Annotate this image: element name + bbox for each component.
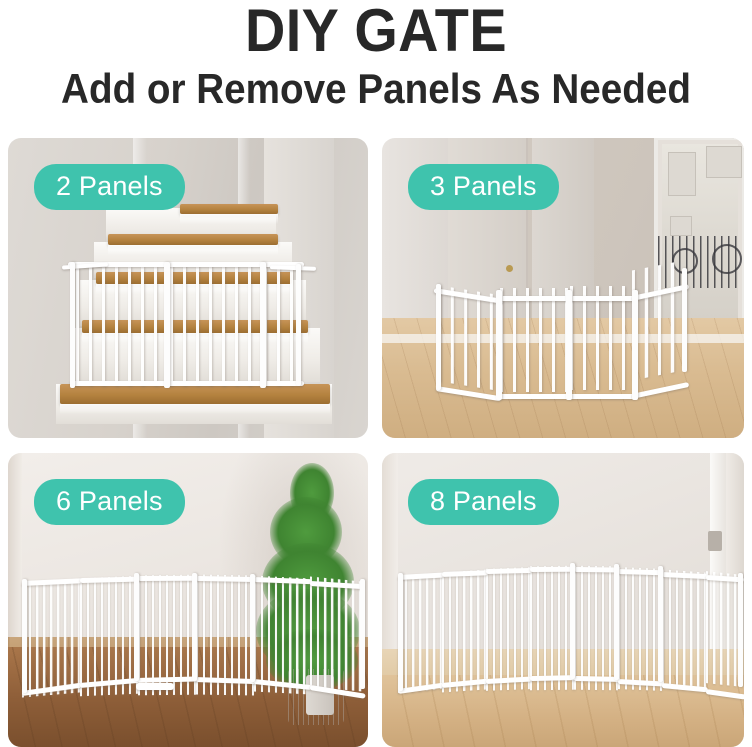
stair-tread: [108, 234, 278, 245]
gate-post-joint: [570, 563, 575, 679]
panel-count-badge: 6 Panels: [34, 479, 185, 525]
door-knob-icon: [506, 265, 513, 272]
gate-bars-left: [76, 266, 168, 386]
gate-post-joint: [658, 566, 663, 682]
gate-section-1: [22, 578, 80, 697]
stair-tread: [60, 384, 330, 404]
panel-count-badge: 2 Panels: [34, 164, 185, 210]
gate-bars-right: [170, 264, 262, 386]
page-title: DIY GATE: [26, 0, 725, 63]
stair-glow: [60, 404, 330, 414]
gate-top-rail: [486, 568, 532, 574]
gate-post-joint: [134, 573, 139, 681]
gate-section-3: [486, 567, 530, 691]
door-latch-icon: [708, 531, 722, 551]
gate-post-extension: [296, 264, 301, 386]
panel-count-badge: 3 Panels: [408, 164, 559, 210]
stair-tread: [180, 204, 278, 214]
gate-post-end-left: [436, 284, 441, 390]
product-infographic: DIY GATE Add or Remove Panels As Needed: [0, 0, 752, 747]
gate-post-end-left: [398, 573, 403, 691]
gate-bars-extension: [264, 264, 294, 386]
panel-configuration-grid: 2 Panels: [0, 136, 752, 747]
gate-section-4: [530, 566, 574, 691]
gate-post-end-right: [682, 268, 687, 372]
gate-section-6: [310, 576, 362, 691]
gate-bars-front-right: [570, 286, 632, 390]
gate-post-joint-2: [566, 290, 572, 400]
gate-post-end-right: [360, 579, 365, 689]
gate-post-left: [70, 262, 75, 388]
exterior-building-detail: [670, 216, 692, 236]
exterior-building-detail: [668, 152, 696, 196]
gate-post-joint-1: [496, 290, 502, 400]
gate-section-8: [706, 571, 742, 687]
gate-top-rail: [196, 576, 256, 582]
panel-count-badge: 8 Panels: [408, 479, 559, 525]
panel-card-six: 6 Panels: [8, 453, 368, 747]
gate-bottom-rail: [70, 381, 304, 386]
stair-glow: [108, 245, 278, 255]
gate-door-latch: [136, 683, 174, 690]
page-subtitle: Add or Remove Panels As Needed: [30, 64, 722, 114]
gate-post-end-left: [22, 579, 27, 693]
gate-top-rail: [138, 576, 198, 581]
gate-post-joint-3: [632, 290, 638, 400]
gate-section-7: [662, 569, 706, 690]
gate-bars-front-left: [500, 288, 568, 392]
gate-post-end-right: [738, 573, 743, 687]
gate-post-right: [260, 262, 266, 388]
gate-section-2: [442, 570, 486, 693]
gate-post-joint: [614, 564, 619, 680]
gate-section-6: [618, 567, 662, 691]
railing-scroll-detail: [712, 244, 742, 274]
panel-card-two: 2 Panels: [8, 138, 368, 438]
header: DIY GATE Add or Remove Panels As Needed: [0, 0, 752, 128]
gate-post-center: [164, 262, 170, 388]
gate-section-5: [574, 566, 618, 691]
stair-glow: [180, 214, 278, 224]
exterior-building-detail: [706, 146, 742, 178]
gate-bars-angled-right: [632, 262, 678, 381]
panel-card-three: 3 Panels: [382, 138, 744, 438]
gate-post-joint: [250, 574, 255, 682]
gate-section-5: [254, 576, 310, 695]
gate-section-1: [398, 573, 442, 693]
gate-post-joint: [192, 573, 197, 681]
panel-card-eight: 8 Panels: [382, 453, 744, 747]
